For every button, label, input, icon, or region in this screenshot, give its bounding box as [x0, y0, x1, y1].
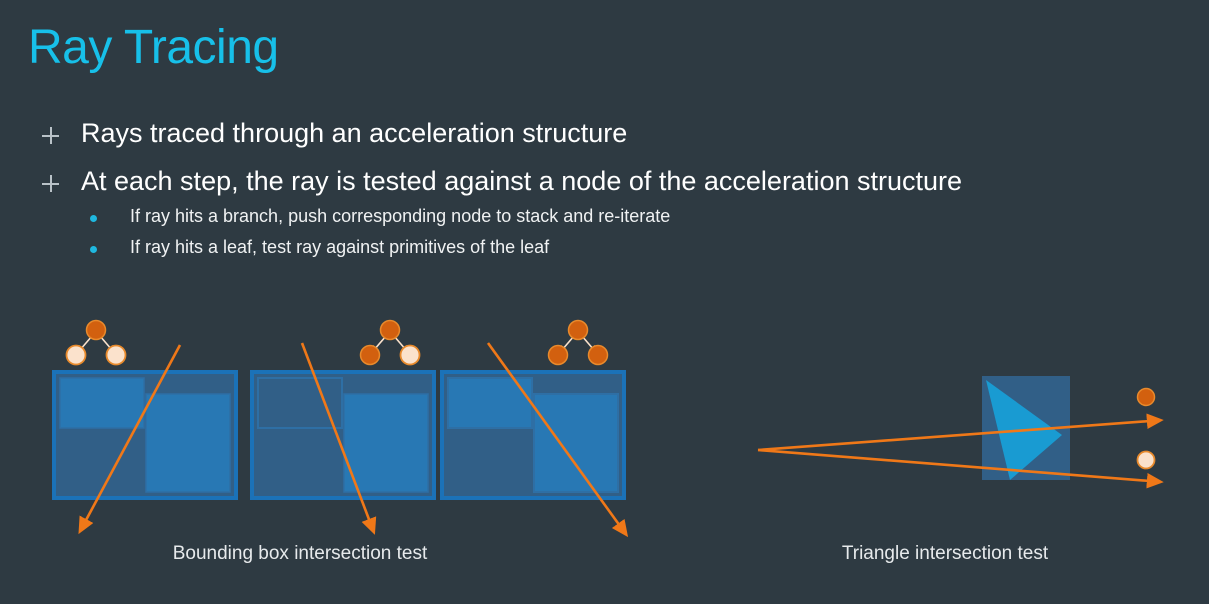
bounding-box-figure — [30, 310, 650, 540]
bounding-box-child-right — [344, 394, 428, 492]
node-tree-step-1 — [67, 321, 126, 365]
bullet-level2-item-1: If ray hits a branch, push corresponding… — [90, 206, 670, 228]
bullet-level2-label-2: If ray hits a leaf, test ray against pri… — [130, 237, 549, 259]
bullet-level1-item-1: Rays traced through an acceleration stru… — [42, 118, 627, 149]
result-node-miss — [1138, 452, 1155, 469]
bounding-box-child-right — [146, 394, 230, 492]
bounding-box-child-left — [258, 378, 342, 428]
bullet-level1-item-2: At each step, the ray is tested against … — [42, 166, 962, 197]
page-title: Ray Tracing — [28, 22, 279, 75]
tree-node-root — [381, 321, 400, 340]
bullet-level2-item-2: If ray hits a leaf, test ray against pri… — [90, 237, 549, 259]
tree-node-root — [87, 321, 106, 340]
dot-icon — [90, 215, 97, 222]
tree-node-left — [361, 346, 380, 365]
dot-icon — [90, 246, 97, 253]
triangle-figure — [740, 360, 1180, 500]
bounding-box-child-right — [534, 394, 618, 492]
tree-node-root — [569, 321, 588, 340]
slide: Ray Tracing Rays traced through an accel… — [0, 0, 1209, 604]
tree-node-right — [401, 346, 420, 365]
bbox-step-3 — [442, 321, 624, 527]
bullet-level1-label-2: At each step, the ray is tested against … — [81, 166, 962, 197]
node-tree-step-3 — [549, 321, 608, 365]
bbox-step-2 — [252, 321, 434, 523]
bbox-step-1 — [54, 321, 236, 523]
tree-node-right — [107, 346, 126, 365]
plus-icon — [42, 175, 59, 192]
bullet-level1-label-1: Rays traced through an acceleration stru… — [81, 118, 627, 149]
bounding-box-caption: Bounding box intersection test — [145, 543, 455, 565]
plus-icon — [42, 127, 59, 144]
tree-node-right — [589, 346, 608, 365]
node-tree-step-2 — [361, 321, 420, 365]
triangle-caption: Triangle intersection test — [790, 543, 1100, 565]
bullet-level2-label-1: If ray hits a branch, push corresponding… — [130, 206, 670, 228]
result-node-hit — [1138, 389, 1155, 406]
tree-node-left — [67, 346, 86, 365]
ray-arrow-lower — [758, 450, 1150, 481]
ray-arrow-upper — [758, 421, 1150, 450]
bounding-box-child-left — [60, 378, 144, 428]
tree-node-left — [549, 346, 568, 365]
